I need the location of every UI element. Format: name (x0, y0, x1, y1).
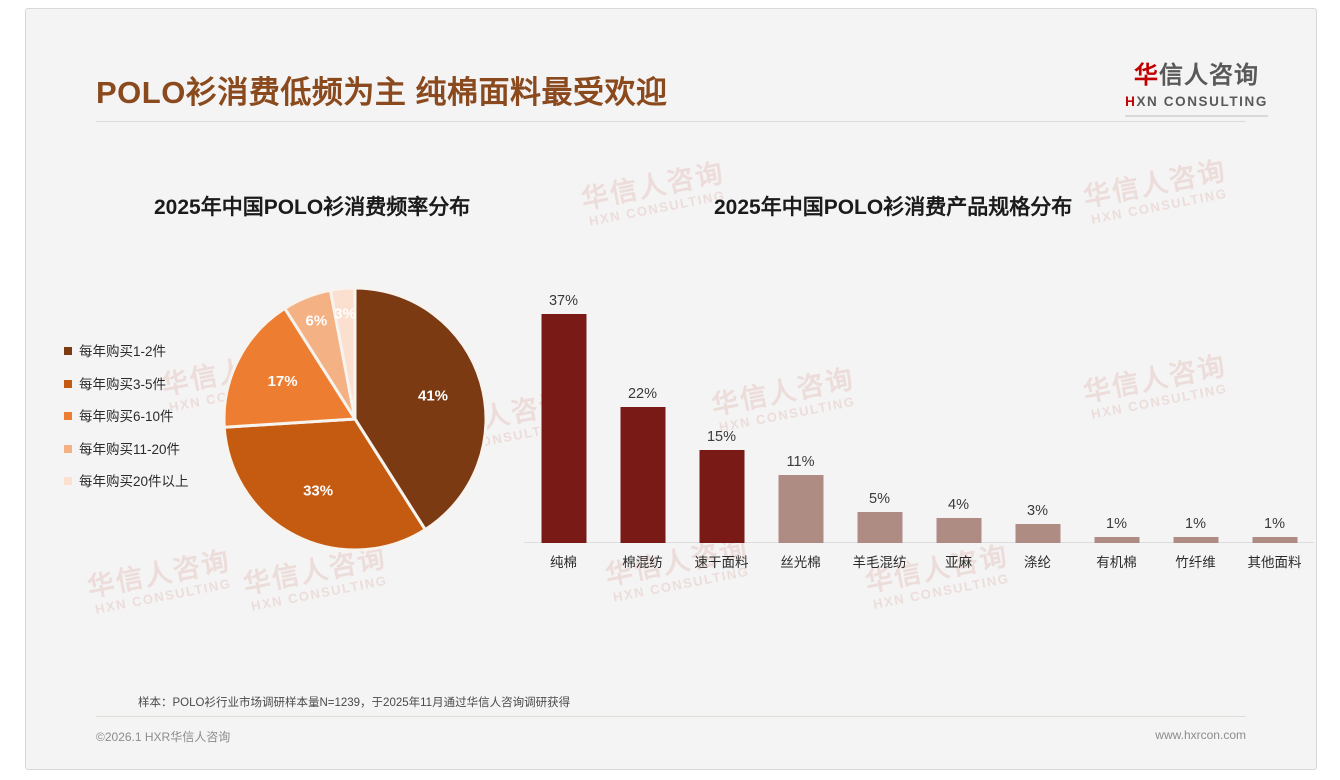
logo-cn-rest: 信人咨询 (1159, 62, 1259, 89)
footer-copyright: ©2026.1 HXR华信人咨询 (96, 728, 230, 745)
pie-chart: 41%33%17%6%3% (222, 286, 488, 552)
bar-value-label: 11% (787, 454, 815, 470)
slide-canvas: 华信人咨询 HXN CONSULTING 华信人咨询 HXN CONSULTIN… (25, 8, 1317, 770)
legend-swatch-icon (64, 412, 72, 420)
pie-slice-label: 33% (303, 482, 333, 499)
brand-logo: 华信人咨询 HXN CONSULTING (1125, 64, 1268, 117)
bar-value-label: 15% (707, 429, 736, 445)
legend-swatch-icon (64, 380, 72, 388)
watermark: 华信人咨询 HXN CONSULTING (241, 543, 392, 616)
legend-item[interactable]: 每年购买1-2件 (64, 342, 214, 362)
bar-value-label: 1% (1264, 516, 1285, 532)
legend-swatch-icon (64, 347, 72, 355)
bar-category-label: 棉混纺 (622, 551, 663, 571)
pie-chart-title: 2025年中国POLO衫消费频率分布 (154, 191, 470, 221)
bar-group: 37%纯棉 (524, 259, 603, 579)
bar-group: 22%棉混纺 (603, 259, 682, 579)
bar-category-label: 纯棉 (550, 551, 577, 571)
pie-slice-label: 17% (268, 373, 298, 390)
pie-slice-label: 41% (418, 387, 448, 404)
bar-group: 15%速干面料 (682, 259, 761, 579)
bar-value-label: 1% (1185, 516, 1206, 532)
bar[interactable] (541, 314, 586, 543)
bar-category-label: 羊毛混纺 (853, 551, 907, 571)
logo-english-text: HXN CONSULTING (1125, 95, 1268, 109)
bar[interactable] (1173, 537, 1218, 543)
bar[interactable] (857, 512, 902, 543)
watermark: 华信人咨询 HXN CONSULTING (579, 158, 730, 231)
logo-en-rest: XN CONSULTING (1136, 94, 1268, 109)
bar-group: 1%竹纤维 (1156, 259, 1235, 579)
source-footnote: 样本：POLO衫行业市场调研样本量N=1239，于2025年11月通过华信人咨询… (138, 694, 570, 710)
legend-item-label: 每年购买11-20件 (79, 440, 180, 460)
bar[interactable] (620, 407, 665, 543)
logo-hx-glyph: 华 (1134, 62, 1159, 89)
bar-category-label: 涤纶 (1024, 551, 1051, 571)
pie-legend: 每年购买1-2件每年购买3-5件每年购买6-10件每年购买11-20件每年购买2… (64, 342, 214, 505)
legend-swatch-icon (64, 445, 72, 453)
bar-value-label: 22% (628, 386, 657, 402)
bar[interactable] (699, 450, 744, 543)
bar-category-label: 丝光棉 (780, 551, 821, 571)
watermark: 华信人咨询 HXN CONSULTING (1081, 156, 1232, 229)
bar-chart-title: 2025年中国POLO衫消费产品规格分布 (714, 191, 1072, 221)
legend-item-label: 每年购买1-2件 (79, 342, 166, 362)
bar-group: 11%丝光棉 (761, 259, 840, 579)
bar[interactable] (1015, 524, 1060, 543)
bar-category-label: 其他面料 (1248, 551, 1302, 571)
bar-group: 1%有机棉 (1077, 259, 1156, 579)
bar-group: 4%亚麻 (919, 259, 998, 579)
logo-chinese-text: 华信人咨询 (1125, 64, 1268, 88)
footer-website[interactable]: www.hxrcon.com (1155, 728, 1246, 742)
bar[interactable] (936, 518, 981, 543)
footer-divider (96, 716, 1246, 717)
title-divider (96, 121, 1246, 122)
bar-group: 3%涤纶 (998, 259, 1077, 579)
bar-category-label: 有机棉 (1096, 551, 1137, 571)
legend-item[interactable]: 每年购买20件以上 (64, 472, 214, 492)
legend-item[interactable]: 每年购买11-20件 (64, 440, 214, 460)
bar-group: 5%羊毛混纺 (840, 259, 919, 579)
bar-chart: 37%纯棉22%棉混纺15%速干面料11%丝光棉5%羊毛混纺4%亚麻3%涤纶1%… (524, 259, 1314, 579)
bar-category-label: 亚麻 (945, 551, 972, 571)
bar-value-label: 1% (1106, 516, 1127, 532)
legend-item-label: 每年购买20件以上 (79, 472, 189, 492)
legend-swatch-icon (64, 477, 72, 485)
legend-item[interactable]: 每年购买3-5件 (64, 375, 214, 395)
watermark: 华信人咨询 HXN CONSULTING (85, 546, 236, 619)
bar[interactable] (1252, 537, 1297, 543)
legend-item-label: 每年购买3-5件 (79, 375, 166, 395)
logo-underline (1125, 115, 1268, 117)
page-title: POLO衫消费低频为主 纯棉面料最受欢迎 (96, 67, 667, 112)
bar-value-label: 5% (869, 491, 890, 507)
pie-chart-svg: 41%33%17%6%3% (222, 286, 488, 552)
legend-item[interactable]: 每年购买6-10件 (64, 407, 214, 427)
bar-value-label: 37% (549, 293, 578, 309)
bar[interactable] (1094, 537, 1139, 543)
bar-value-label: 3% (1027, 503, 1048, 519)
bar-category-label: 竹纤维 (1175, 551, 1216, 571)
bar[interactable] (778, 475, 823, 543)
logo-en-accent: H (1125, 94, 1136, 109)
legend-item-label: 每年购买6-10件 (79, 407, 174, 427)
bar-group: 1%其他面料 (1235, 259, 1314, 579)
pie-slice-label: 6% (306, 313, 328, 330)
bar-category-label: 速干面料 (695, 551, 749, 571)
bar-value-label: 4% (948, 497, 969, 513)
slide-header: POLO衫消费低频为主 纯棉面料最受欢迎 华信人咨询 HXN CONSULTIN… (26, 9, 1316, 121)
pie-slice-label: 3% (334, 306, 356, 323)
